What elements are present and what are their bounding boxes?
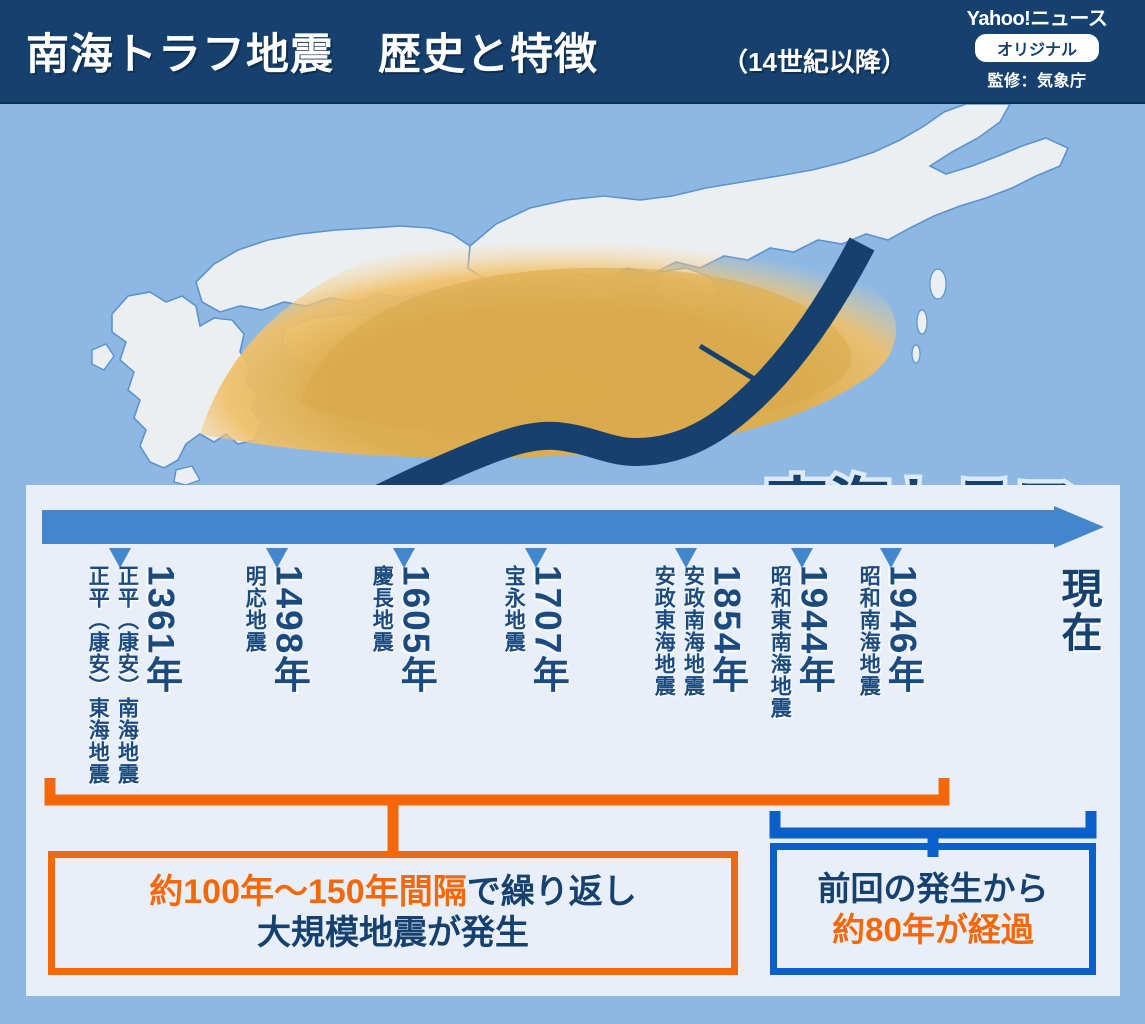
brand-block: Yahoo!ニュース オリジナル 監修：気象庁 bbox=[943, 8, 1131, 91]
timeline-event-1854[interactable]: 1854年 安政南海地震 安政東海地震 bbox=[650, 565, 746, 697]
event-name-secondary: 安政東海地震 bbox=[650, 565, 676, 697]
event-year: 1707年 bbox=[529, 565, 566, 694]
page-title: 南海トラフ地震 歴史と特徴 bbox=[26, 20, 598, 82]
event-year: 1498年 bbox=[270, 565, 307, 694]
brand-name: Yahoo!ニュース bbox=[943, 8, 1131, 30]
callout-line-1: 約100年〜150年間隔で繰り返し bbox=[149, 872, 636, 913]
callout-rest: で繰り返し bbox=[467, 873, 637, 911]
timeline-event-1498[interactable]: 1498年 明応地震 bbox=[241, 565, 307, 694]
callout-line-2: 大規模地震が発生 bbox=[257, 913, 529, 954]
event-name: 宝永地震 bbox=[500, 565, 526, 653]
map-region: 南海トラフ 南海トラフ bbox=[0, 104, 1145, 485]
event-name: 明応地震 bbox=[241, 565, 267, 653]
event-year: 1946年 bbox=[884, 565, 921, 694]
event-name: 昭和南海地震 bbox=[855, 565, 881, 697]
event-name: 正平（康安）南海地震 bbox=[113, 565, 139, 785]
callout-line-1: 前回の発生から bbox=[818, 868, 1049, 909]
event-year: 1361年 bbox=[143, 565, 180, 694]
page-subtitle: （14世紀以降） bbox=[722, 42, 907, 79]
nankai-trough-label-fill: 南海トラフ bbox=[766, 456, 1076, 485]
timeline-event-1944[interactable]: 1944年 昭和東南海地震 bbox=[766, 565, 832, 719]
brand-badge: オリジナル bbox=[975, 34, 1099, 62]
callout-line-2: 約80年が経過 bbox=[832, 909, 1034, 950]
timeline-event-1605[interactable]: 1605年 慶長地震 bbox=[368, 565, 434, 694]
timeline-now-label: 現在 bbox=[1048, 567, 1108, 655]
timeline-axis-arrow bbox=[42, 506, 1104, 548]
japan-map-svg bbox=[0, 104, 1145, 485]
timeline-event-1707[interactable]: 1707年 宝永地震 bbox=[500, 565, 566, 694]
event-name: 昭和東南海地震 bbox=[766, 565, 792, 719]
event-year: 1854年 bbox=[709, 565, 746, 694]
bracket-blue bbox=[0, 805, 1145, 865]
event-name: 慶長地震 bbox=[368, 565, 394, 653]
event-year: 1605年 bbox=[397, 565, 434, 694]
event-year: 1944年 bbox=[795, 565, 832, 694]
callout-highlight: 約100年〜150年間隔 bbox=[149, 873, 466, 911]
brand-credit: 監修：気象庁 bbox=[943, 67, 1131, 91]
timeline-event-1946[interactable]: 1946年 昭和南海地震 bbox=[855, 565, 921, 697]
timeline-event-1361[interactable]: 1361年 正平（康安）南海地震 正平（康安）東海地震 bbox=[84, 565, 180, 785]
event-name: 安政南海地震 bbox=[679, 565, 705, 697]
event-name-secondary: 正平（康安）東海地震 bbox=[84, 565, 110, 785]
page-header: 南海トラフ地震 歴史と特徴 （14世紀以降） Yahoo!ニュース オリジナル … bbox=[0, 0, 1145, 104]
